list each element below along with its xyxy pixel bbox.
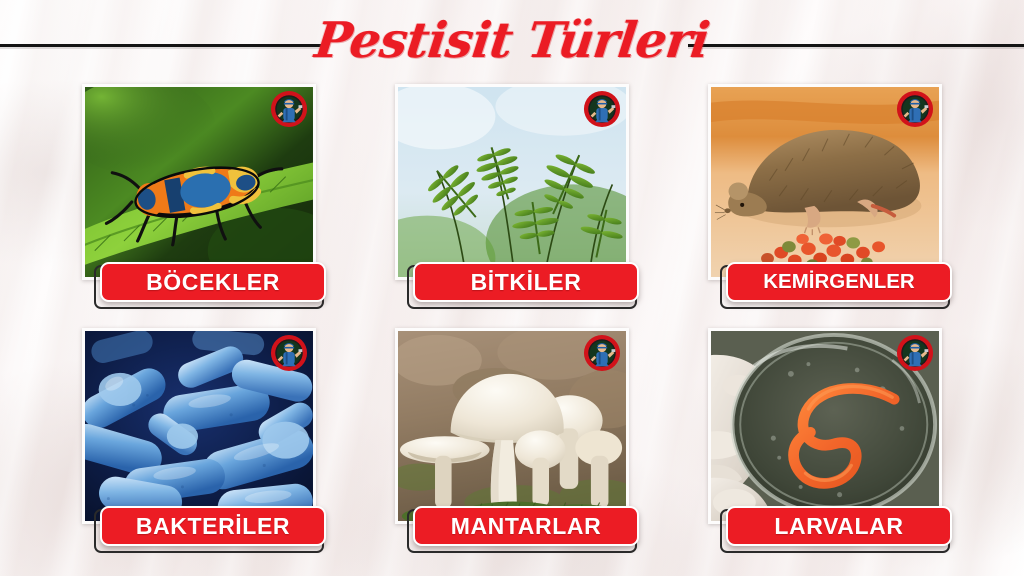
label-text: BAKTERİLER: [136, 513, 290, 540]
card-larvalar[interactable]: LARVALAR: [708, 328, 942, 524]
page-title: Pestisit Türleri: [0, 0, 1024, 80]
label-text: KEMİRGENLER: [763, 270, 914, 294]
card-label-mantarlar[interactable]: MANTARLAR: [407, 506, 633, 546]
pest-control-worker-icon: [896, 90, 934, 128]
card-label-bocekler[interactable]: BÖCEKLER: [94, 262, 320, 302]
card-label-bitkiler[interactable]: BİTKİLER: [407, 262, 633, 302]
slide-canvas: Pestisit Türleri: [0, 0, 1024, 576]
pest-control-worker-icon: [270, 334, 308, 372]
card-label-kemirgenler[interactable]: KEMİRGENLER: [720, 262, 946, 302]
pesticide-type-grid: BÖCEKLER: [82, 84, 944, 564]
card-bocekler[interactable]: BÖCEKLER: [82, 84, 316, 280]
label-text: LARVALAR: [774, 513, 903, 540]
label-text: BİTKİLER: [471, 269, 582, 296]
card-kemirgenler[interactable]: KEMİRGENLER: [708, 84, 942, 280]
card-mantarlar[interactable]: MANTARLAR: [395, 328, 629, 524]
label-plate: KEMİRGENLER: [726, 262, 952, 302]
label-plate: BAKTERİLER: [100, 506, 326, 546]
card-bakteriler[interactable]: BAKTERİLER: [82, 328, 316, 524]
card-bitkiler[interactable]: BİTKİLER: [395, 84, 629, 280]
label-text: MANTARLAR: [451, 513, 602, 540]
slide-header: Pestisit Türleri: [0, 0, 1024, 80]
pest-control-worker-icon: [583, 334, 621, 372]
label-plate: BÖCEKLER: [100, 262, 326, 302]
label-plate: BİTKİLER: [413, 262, 639, 302]
label-text: BÖCEKLER: [146, 269, 280, 296]
label-plate: LARVALAR: [726, 506, 952, 546]
card-label-larvalar[interactable]: LARVALAR: [720, 506, 946, 546]
pest-control-worker-icon: [583, 90, 621, 128]
pest-control-worker-icon: [270, 90, 308, 128]
label-plate: MANTARLAR: [413, 506, 639, 546]
card-label-bakteriler[interactable]: BAKTERİLER: [94, 506, 320, 546]
pest-control-worker-icon: [896, 334, 934, 372]
